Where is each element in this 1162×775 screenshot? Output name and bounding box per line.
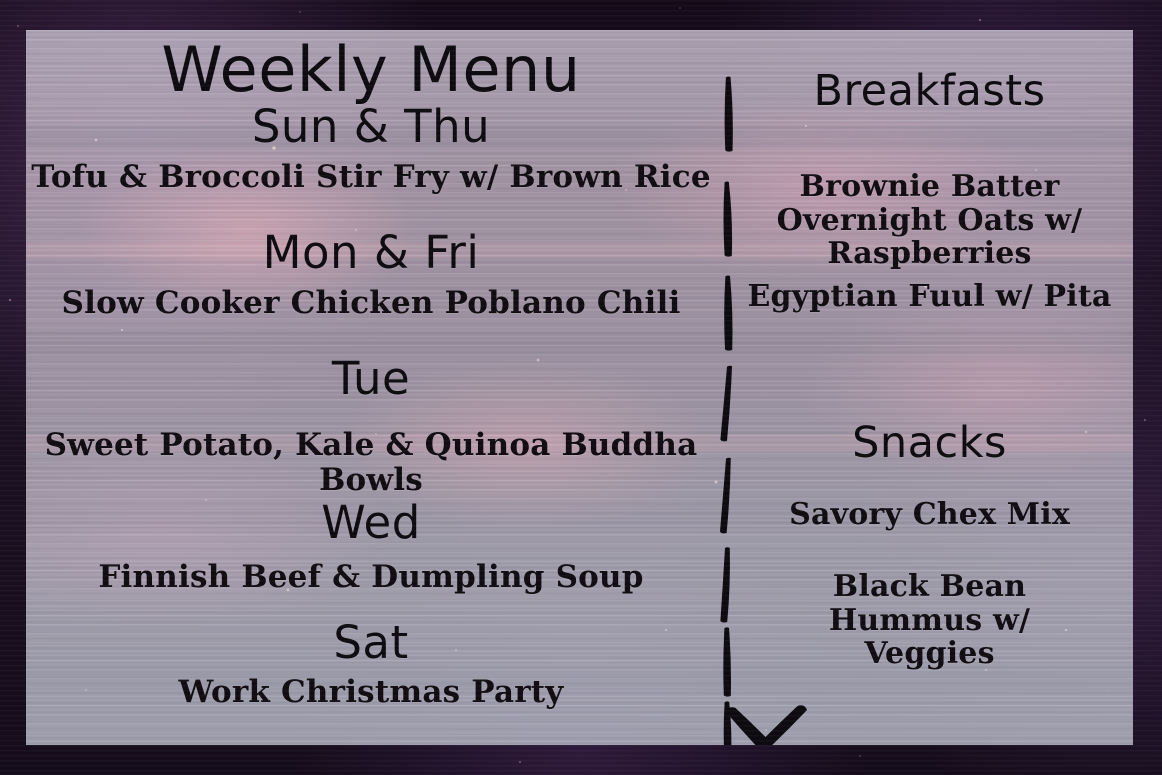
menu-content: Weekly Menu Sun & Thu Tofu & Broccoli St… <box>26 30 1133 745</box>
meal-sat: Work Christmas Party <box>26 675 716 710</box>
meal-mon-fri: Slow Cooker Chicken Poblano Chili <box>26 286 716 321</box>
page-title: Weekly Menu <box>26 38 716 101</box>
breakfast-item-1: Brownie Batter Overnight Oats w/ Raspber… <box>726 170 1133 271</box>
right-column: Breakfasts Brownie Batter Overnight Oats… <box>726 30 1133 745</box>
day-heading-tue: Tue <box>26 356 716 402</box>
snack-item-2: Black Bean Hummus w/ Veggies <box>726 570 1133 671</box>
snack-item-1: Savory Chex Mix <box>726 498 1133 532</box>
meal-wed: Finnish Beef & Dumpling Soup <box>26 560 716 595</box>
day-heading-sat: Sat <box>26 620 716 666</box>
meal-tue: Sweet Potato, Kale & Quinoa Buddha Bowls <box>26 428 716 497</box>
day-heading-wed: Wed <box>26 500 716 546</box>
day-heading-sun-thu: Sun & Thu <box>26 104 716 150</box>
menu-poster: Weekly Menu Sun & Thu Tofu & Broccoli St… <box>0 0 1162 775</box>
section-heading-breakfasts: Breakfasts <box>726 70 1133 114</box>
meal-sun-thu: Tofu & Broccoli Stir Fry w/ Brown Rice <box>26 160 716 195</box>
left-column: Weekly Menu Sun & Thu Tofu & Broccoli St… <box>26 30 716 745</box>
section-heading-snacks: Snacks <box>726 422 1133 466</box>
day-heading-mon-fri: Mon & Fri <box>26 230 716 276</box>
breakfast-item-2: Egyptian Fuul w/ Pita <box>726 280 1133 314</box>
